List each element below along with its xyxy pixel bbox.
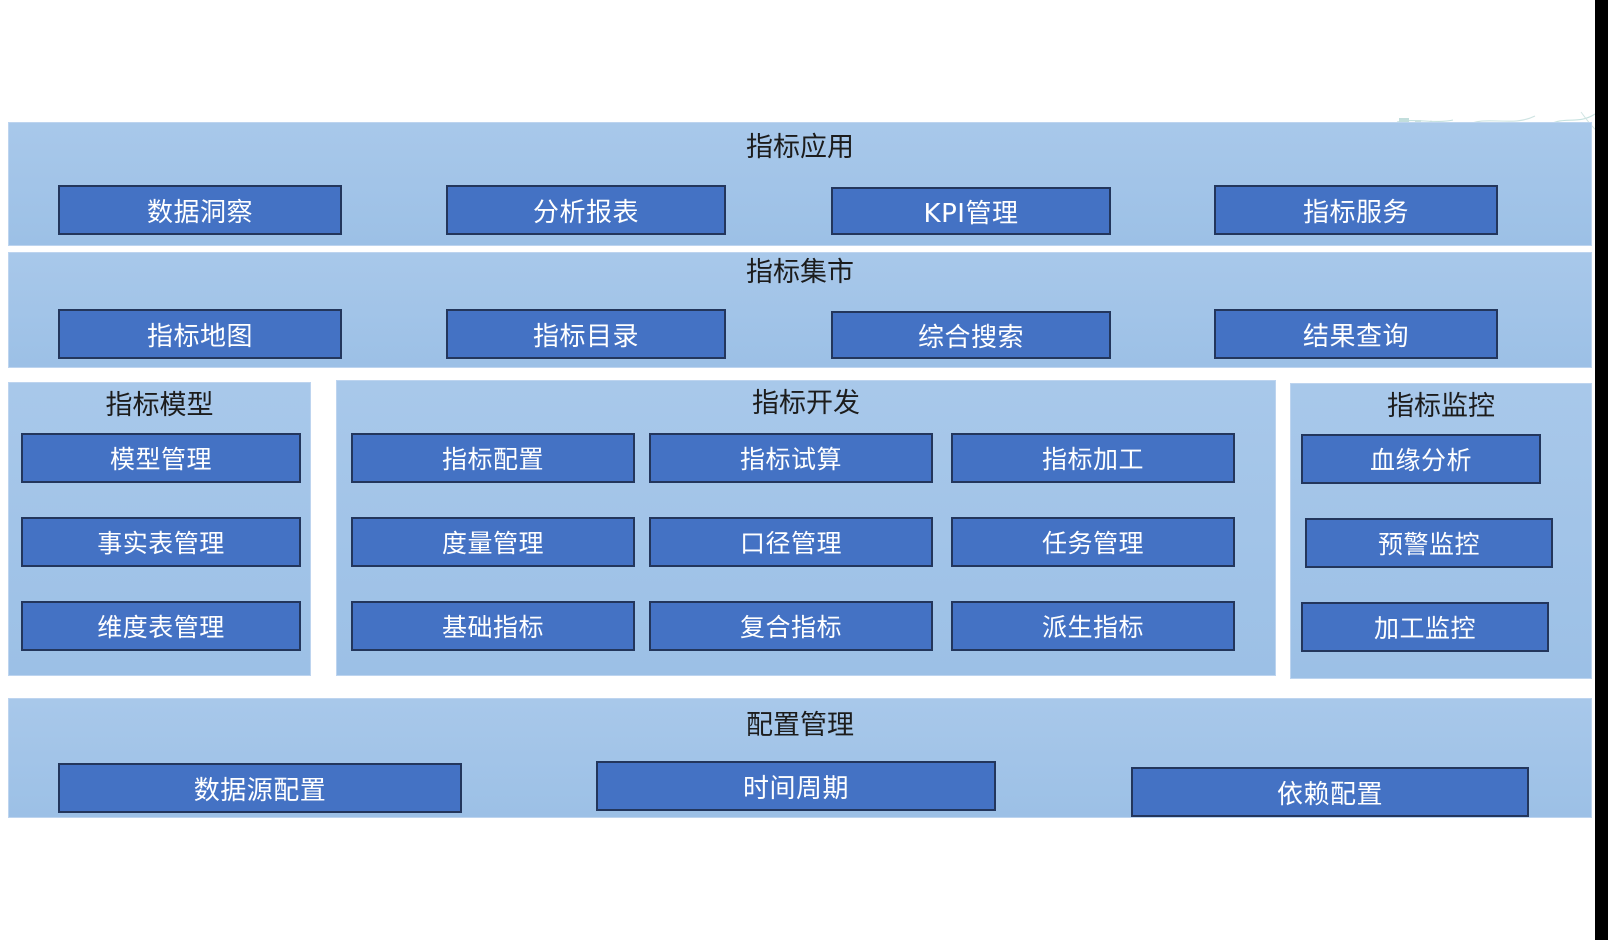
layer-indicator-application: 指标应用 数据洞察 分析报表 KPI管理 指标服务 [8, 122, 1592, 246]
node-task-management[interactable]: 任务管理 [951, 517, 1235, 567]
node-caliber-management[interactable]: 口径管理 [649, 517, 933, 567]
node-basic-indicator[interactable]: 基础指标 [351, 601, 635, 651]
layer-title-indicator-application: 指标应用 [9, 133, 1591, 163]
node-analysis-report[interactable]: 分析报表 [446, 185, 726, 235]
node-fact-table-management[interactable]: 事实表管理 [21, 517, 301, 567]
layer-indicator-monitoring: 指标监控 血缘分析 预警监控 加工监控 [1290, 383, 1592, 679]
node-indicator-configuration[interactable]: 指标配置 [351, 433, 635, 483]
layer-title-indicator-model: 指标模型 [9, 391, 310, 421]
architecture-diagram: 指标应用 数据洞察 分析报表 KPI管理 指标服务 指标集市 指标地图 指标目录… [0, 0, 1608, 940]
node-model-management[interactable]: 模型管理 [21, 433, 301, 483]
node-indicator-map[interactable]: 指标地图 [58, 309, 342, 359]
layer-title-configuration-management: 配置管理 [9, 711, 1591, 741]
node-measure-management[interactable]: 度量管理 [351, 517, 635, 567]
node-comprehensive-search[interactable]: 综合搜索 [831, 311, 1111, 359]
node-time-period[interactable]: 时间周期 [596, 761, 996, 811]
node-indicator-service[interactable]: 指标服务 [1214, 185, 1498, 235]
node-derived-indicator[interactable]: 派生指标 [951, 601, 1235, 651]
node-indicator-catalog[interactable]: 指标目录 [446, 309, 726, 359]
layer-title-indicator-monitoring: 指标监控 [1291, 392, 1591, 422]
layer-indicator-model: 指标模型 模型管理 事实表管理 维度表管理 [8, 382, 311, 676]
node-alert-monitoring[interactable]: 预警监控 [1305, 518, 1553, 568]
node-indicator-processing[interactable]: 指标加工 [951, 433, 1235, 483]
node-composite-indicator[interactable]: 复合指标 [649, 601, 933, 651]
layer-indicator-marketplace: 指标集市 指标地图 指标目录 综合搜索 结果查询 [8, 252, 1592, 368]
node-data-insight[interactable]: 数据洞察 [58, 185, 342, 235]
layer-configuration-management: 配置管理 数据源配置 时间周期 依赖配置 [8, 698, 1592, 818]
node-lineage-analysis[interactable]: 血缘分析 [1301, 434, 1541, 484]
node-dependency-configuration[interactable]: 依赖配置 [1131, 767, 1529, 817]
node-kpi-management[interactable]: KPI管理 [831, 187, 1111, 235]
node-dimension-table-management[interactable]: 维度表管理 [21, 601, 301, 651]
layer-indicator-development: 指标开发 指标配置 指标试算 指标加工 度量管理 口径管理 任务管理 基础指标 … [336, 380, 1276, 676]
layer-title-indicator-marketplace: 指标集市 [9, 258, 1591, 288]
node-processing-monitoring[interactable]: 加工监控 [1301, 602, 1549, 652]
node-result-query[interactable]: 结果查询 [1214, 309, 1498, 359]
node-datasource-configuration[interactable]: 数据源配置 [58, 763, 462, 813]
image-crop-bar [1595, 0, 1608, 940]
node-indicator-trial-calculation[interactable]: 指标试算 [649, 433, 933, 483]
layer-title-indicator-development: 指标开发 [337, 389, 1275, 419]
